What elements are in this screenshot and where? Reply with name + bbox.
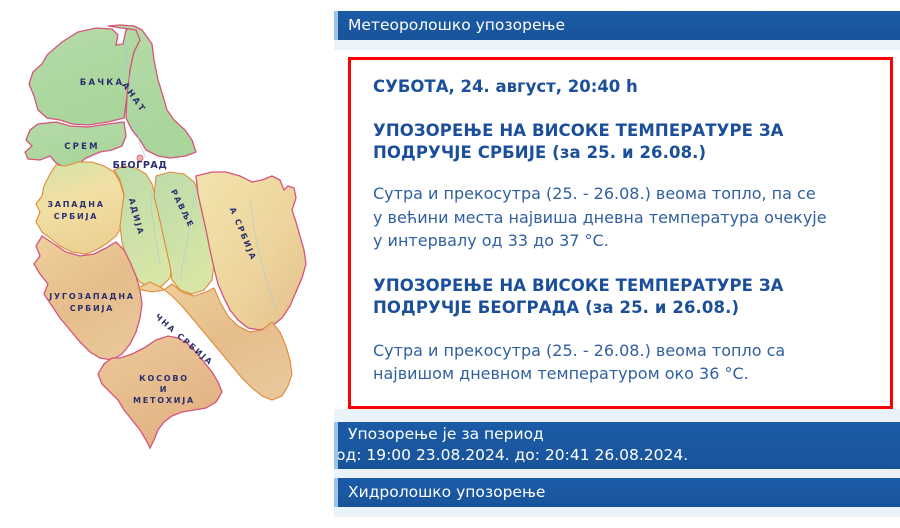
spacer-after-belgrade-heading bbox=[373, 319, 870, 339]
belgrade-heading-line1: УПОЗОРЕЊЕ НА ВИСОКЕ ТЕМПЕРАТУРЕ ЗА bbox=[373, 275, 870, 297]
serbia-heading-line2: ПОДРУЧЈЕ СРБИЈЕ (за 25. и 26.08.) bbox=[373, 142, 870, 164]
warnings-panel: Метеоролошко упозорење СУБОТА, 24. авгус… bbox=[330, 0, 900, 528]
alert-datetime: СУБОТА, 24. август, 20:40 h bbox=[373, 76, 870, 98]
meteo-warning-header[interactable]: Метеоролошко упозорење bbox=[334, 11, 900, 40]
spacer-after-datetime bbox=[373, 100, 870, 120]
warning-period-line1: Упозорење је за период bbox=[348, 425, 544, 443]
spacer-below-period bbox=[334, 469, 900, 478]
map-label-srem: СРЕМ bbox=[64, 142, 100, 152]
belgrade-heading-line2: ПОДРУЧЈЕ БЕОГРАДА (за 25. и 26.08.) bbox=[373, 297, 870, 319]
map-label-zapadna-1: ЗАПАДНА bbox=[47, 200, 104, 209]
spacer-after-serbia-text bbox=[373, 253, 870, 275]
serbia-text-line1: Сутра и прекосутра (25. - 26.08.) веома … bbox=[373, 182, 870, 206]
page-root: БАЧКА БАНАТ СРЕМ БЕОГРАД ЗАПАДНА СРБИЈА … bbox=[0, 0, 900, 528]
map-label-beograd: БЕОГРАД bbox=[113, 160, 168, 171]
map-label-kosovo: КОСОВО bbox=[139, 374, 189, 383]
spacer-after-serbia-heading bbox=[373, 164, 870, 182]
map-label-zapadna-2: СРБИЈА bbox=[54, 212, 99, 221]
map-svg: БАЧКА БАНАТ СРЕМ БЕОГРАД ЗАПАДНА СРБИЈА … bbox=[0, 0, 330, 528]
serbia-map: БАЧКА БАНАТ СРЕМ БЕОГРАД ЗАПАДНА СРБИЈА … bbox=[0, 0, 330, 528]
belgrade-text-line2: највишом дневном температуром око 36 °C. bbox=[373, 362, 870, 386]
map-label-jugozapadna-1: ЈУГОЗАПАДНА bbox=[48, 292, 135, 301]
spacer-below-alert-box bbox=[334, 409, 900, 422]
serbia-heading-line1: УПОЗОРЕЊЕ НА ВИСОКЕ ТЕМПЕРАТУРЕ ЗА bbox=[373, 120, 870, 142]
warning-period-line2: од: 19:00 23.08.2024. до: 20:41 26.08.20… bbox=[336, 445, 900, 466]
hydro-warning-header[interactable]: Хидролошко упозорење bbox=[334, 478, 900, 507]
belgrade-text-line1: Сутра и прекосутра (25. - 26.08.) веома … bbox=[373, 339, 870, 363]
map-label-metohija: МЕТОХИЈА bbox=[133, 396, 195, 405]
hydro-warning-title: Хидролошко упозорење bbox=[348, 483, 545, 501]
serbia-text-line3: у интервалу од 33 до 37 °C. bbox=[373, 229, 870, 253]
map-label-backa: БАЧКА bbox=[80, 78, 124, 88]
map-label-jugozapadna-2: СРБИЈА bbox=[70, 304, 115, 313]
spacer-below-hydro bbox=[334, 507, 900, 517]
header-spacer-1 bbox=[334, 40, 900, 50]
meteo-alert-box: СУБОТА, 24. август, 20:40 h УПОЗОРЕЊЕ НА… bbox=[348, 57, 893, 409]
warning-period-bar: Упозорење је за период од: 19:00 23.08.2… bbox=[334, 422, 900, 469]
serbia-text-line2: у већини места највиша дневна температур… bbox=[373, 206, 870, 230]
meteo-warning-title: Метеоролошко упозорење bbox=[348, 16, 565, 34]
map-label-i: И bbox=[160, 385, 169, 394]
region-backa bbox=[29, 26, 142, 125]
